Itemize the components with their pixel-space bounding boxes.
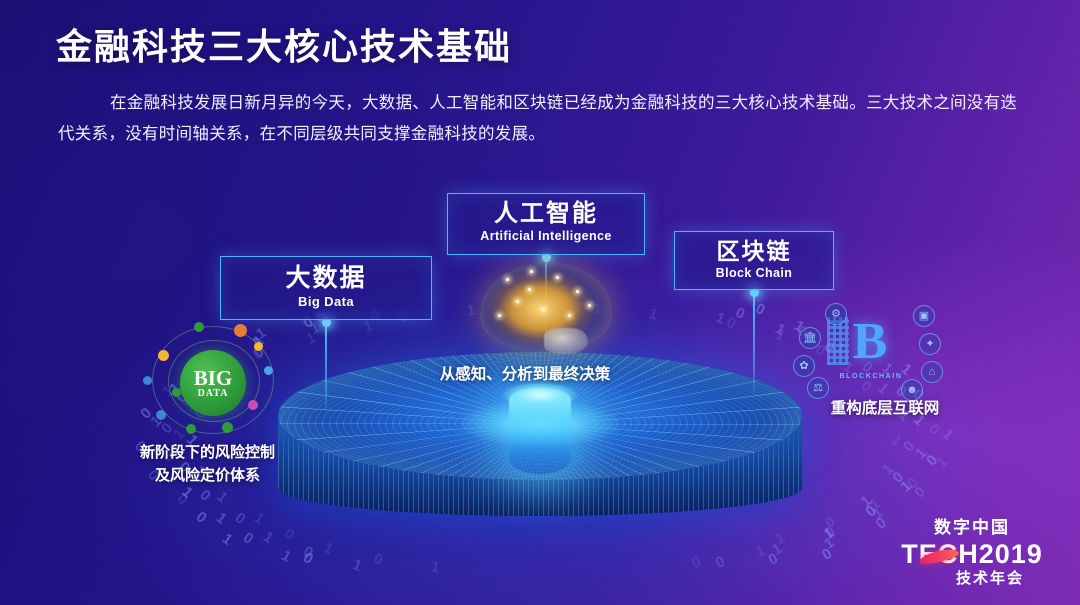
- neuron-spark: [528, 288, 531, 291]
- binary-digit: 0: [822, 523, 839, 542]
- pillar-label-en: Artificial Intelligence: [448, 228, 644, 244]
- neuron-spark: [498, 314, 501, 317]
- binary-digit: 1: [772, 320, 788, 339]
- logo-title-cn: 数字中国: [892, 516, 1052, 539]
- binary-digit: 1: [219, 530, 236, 549]
- binary-digit: 0: [923, 451, 941, 469]
- binary-digit: 1: [880, 461, 898, 479]
- binary-digit: 1: [773, 326, 788, 345]
- bank-icon: 🏛: [799, 327, 821, 349]
- neuron-spark: [588, 304, 591, 307]
- binary-digit: 1: [887, 432, 905, 450]
- binary-digit: 1: [934, 454, 952, 472]
- pillar-label-artificial-intelligence[interactable]: 人工智能 Artificial Intelligence: [447, 193, 645, 255]
- binary-digit: 1: [212, 509, 229, 527]
- binary-digit: 0: [300, 543, 315, 562]
- home-icon: ⌂: [921, 361, 943, 383]
- binary-digit: 1: [870, 504, 887, 522]
- binary-digit: 1: [251, 509, 268, 528]
- network-icon: ⚙: [825, 303, 847, 325]
- binary-digit: 0: [196, 487, 214, 505]
- binary-digit: 0: [911, 483, 929, 501]
- binary-digit: 1: [304, 329, 320, 348]
- platform-core-glow: [503, 382, 577, 408]
- binary-digit: 0: [174, 490, 191, 508]
- binary-digit: 1: [350, 556, 364, 575]
- binary-digit: 0: [765, 551, 780, 570]
- caption-block-chain: 重构底层互联网: [800, 396, 970, 418]
- binary-digit: 0: [889, 469, 907, 487]
- binary-digit: 1: [897, 477, 915, 495]
- binary-digit: 0: [819, 545, 835, 564]
- event-logo: 数字中国 TECH2019 技术年会: [892, 516, 1052, 589]
- pillar-label-cn: 大数据: [221, 263, 431, 293]
- neuron-spark: [506, 278, 509, 281]
- connector-block-chain: [753, 292, 755, 398]
- neuron-spark: [542, 308, 545, 311]
- cluster-node-icon: [172, 388, 181, 397]
- binary-digit: 1: [214, 489, 232, 507]
- blockchain-wordmark: BLOCKCHAIN: [831, 373, 911, 380]
- binary-digit: 1: [308, 319, 323, 338]
- logo-subtitle-cn: 技术年会: [892, 569, 1052, 589]
- binary-digit: 1: [753, 542, 768, 561]
- binary-digit: 1: [821, 534, 837, 553]
- binary-digit: 1: [820, 525, 837, 544]
- binary-digit: 1: [867, 495, 884, 513]
- big-data-illustration: BIG DATA: [138, 322, 288, 440]
- leaf-icon: ✿: [793, 355, 815, 377]
- connector-big-data: [325, 322, 327, 414]
- binary-digit: 0: [724, 314, 738, 333]
- binary-digit: 1: [713, 309, 727, 328]
- chart-icon: ▣: [913, 305, 935, 327]
- binary-digit: 1: [321, 539, 336, 558]
- cluster-node-icon: [194, 322, 204, 332]
- binary-digit: 1: [647, 306, 659, 325]
- binary-digit: 0: [900, 437, 918, 455]
- binary-digit: 0: [713, 553, 727, 572]
- cluster-node-icon: [222, 422, 233, 433]
- pillar-label-en: Block Chain: [675, 265, 833, 281]
- neuron-spark: [530, 270, 533, 273]
- binary-digit: 0: [905, 475, 923, 493]
- binary-digit: 0: [301, 549, 317, 568]
- brain-illustration: [472, 252, 620, 362]
- pillar-label-en: Big Data: [221, 293, 431, 310]
- binary-digit: 0: [240, 529, 257, 548]
- binary-digit: 0: [925, 421, 943, 439]
- binary-digit: 0: [872, 514, 889, 533]
- body-paragraph: 在金融科技发展日新月异的今天，大数据、人工智能和区块链已经成为金融科技的三大核心…: [58, 88, 1028, 150]
- big-data-badge: BIG DATA: [180, 350, 246, 416]
- binary-digit: 0: [371, 551, 385, 570]
- pillar-label-big-data[interactable]: 大数据 Big Data: [220, 256, 432, 320]
- big-data-badge-primary: BIG: [194, 368, 233, 388]
- logo-wordmark: TECH2019: [901, 539, 1043, 569]
- cluster-node-icon: [156, 410, 166, 420]
- cluster-node-icon: [234, 324, 247, 337]
- caption-big-data: 新阶段下的风险控制 及风险定价体系: [100, 441, 315, 487]
- neuron-spark: [516, 300, 519, 303]
- cluster-node-icon: [264, 366, 273, 375]
- binary-digit: 1: [857, 492, 875, 510]
- block-chain-illustration: B BLOCKCHAIN ⚙ ▣ 🏛 ✦ ✿ ⌂ ⚖ ☻: [793, 303, 945, 401]
- pillar-label-block-chain[interactable]: 区块链 Block Chain: [674, 231, 834, 290]
- binary-digit: 1: [939, 426, 957, 444]
- bitcoin-b-icon: B: [841, 311, 899, 373]
- binary-digit: 1: [279, 547, 295, 566]
- cluster-node-icon: [248, 400, 258, 410]
- binary-digit: 0: [193, 508, 210, 526]
- caption-line: 新阶段下的风险控制: [100, 441, 315, 464]
- cluster-node-icon: [254, 342, 263, 351]
- neuron-spark: [576, 290, 579, 293]
- caption-artificial-intelligence: 从感知、分析到最终决策: [415, 362, 635, 384]
- binary-digit: 0: [822, 513, 839, 532]
- binary-digit: 0: [732, 304, 747, 323]
- binary-digit: 1: [912, 444, 930, 462]
- cluster-node-icon: [158, 350, 169, 361]
- pillar-label-cn: 区块链: [675, 237, 833, 265]
- cluster-node-icon: [186, 424, 196, 434]
- logo-wordmark-text: TECH2019: [901, 539, 1043, 569]
- binary-digit: 0: [862, 502, 879, 520]
- binary-digit: 1: [769, 540, 785, 559]
- binary-digit: 0: [232, 509, 249, 528]
- slide-canvas: 金融科技三大核心技术基础 在金融科技发展日新月异的今天，大数据、人工智能和区块链…: [0, 0, 1080, 605]
- big-data-badge-secondary: DATA: [198, 388, 229, 399]
- binary-digit: 1: [260, 528, 276, 547]
- handshake-icon: ✦: [919, 333, 941, 355]
- binary-digit: 0: [689, 553, 702, 572]
- caption-line: 及风险定价体系: [100, 464, 315, 487]
- neuron-spark: [568, 314, 571, 317]
- brain-stem: [544, 328, 588, 354]
- binary-digit: 1: [430, 558, 442, 576]
- neuron-spark: [556, 276, 559, 279]
- cluster-node-icon: [143, 376, 152, 385]
- pillar-label-cn: 人工智能: [448, 199, 644, 228]
- page-title: 金融科技三大核心技术基础: [56, 18, 512, 70]
